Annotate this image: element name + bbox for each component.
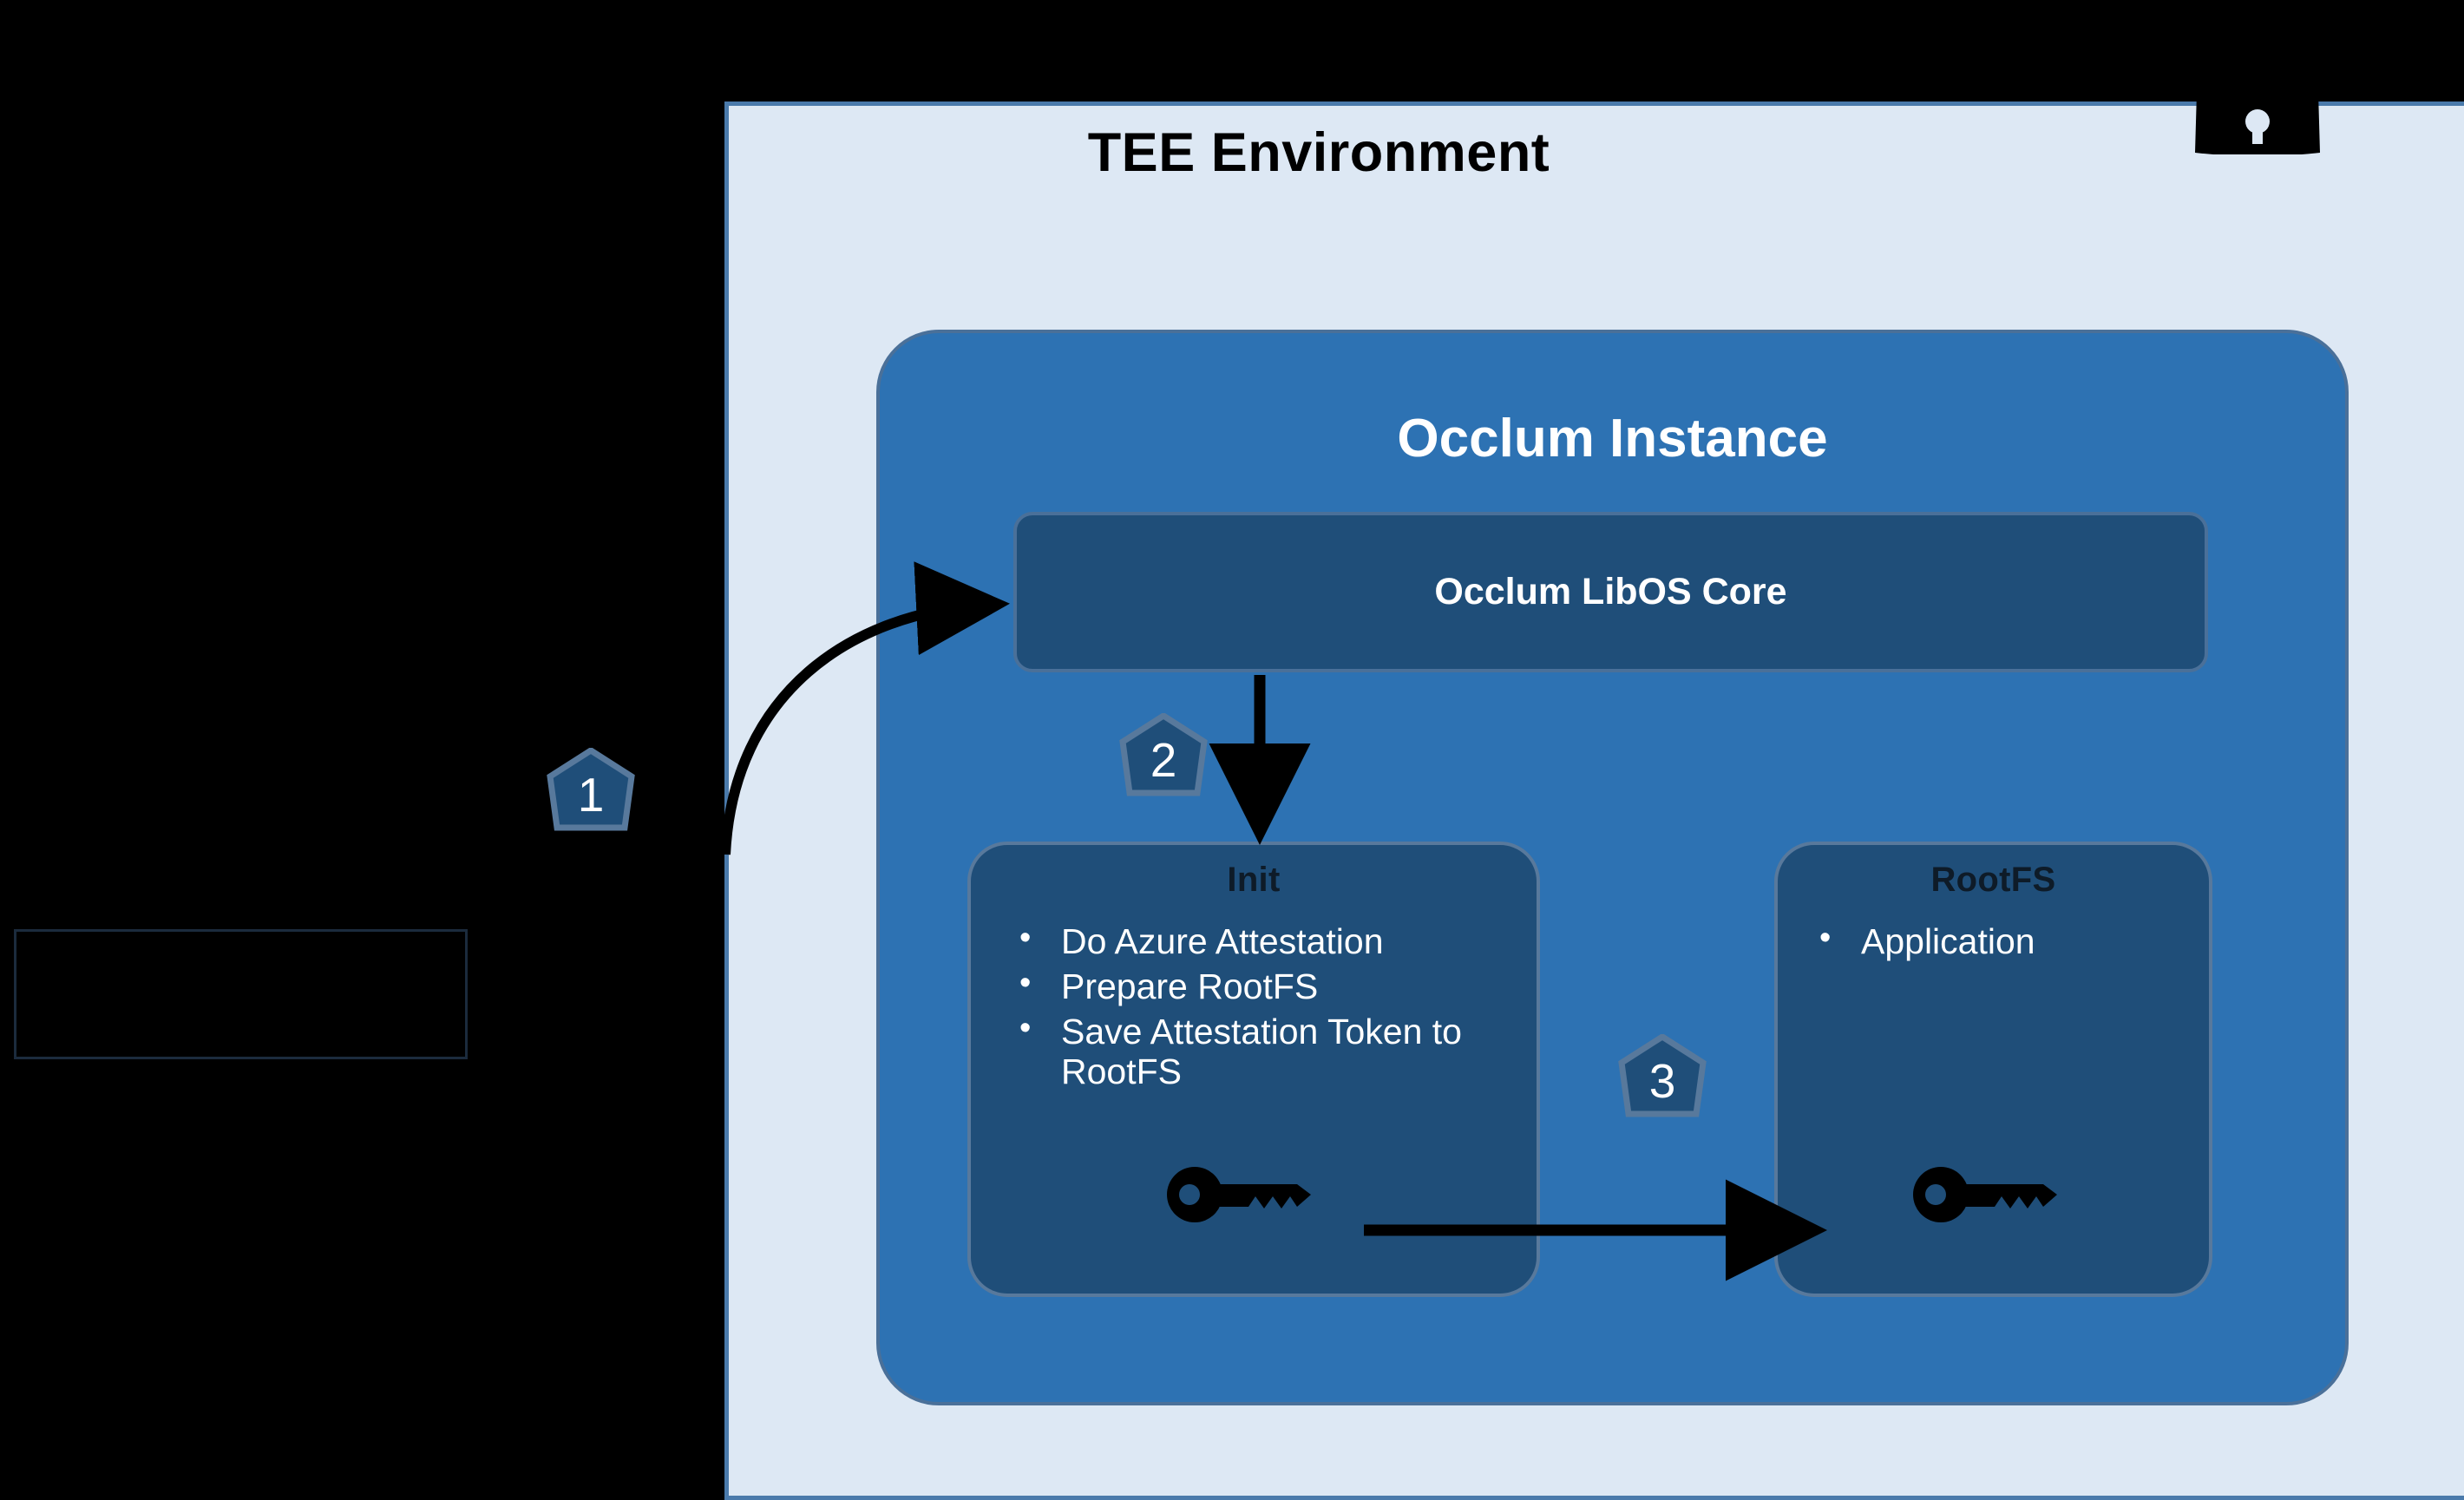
init-panel: Init Do Azure Attestation Prepare RootFS… [967,842,1540,1297]
occlum-libos-core-box: Occlum LibOS Core [1013,512,2208,672]
tee-environment-title: TEE Environment [724,121,1913,184]
rootfs-panel: RootFS Application [1774,842,2212,1297]
key-icon [1167,1167,1321,1227]
list-item: Do Azure Attestation [1012,922,1537,962]
step-badge-2: 2 [1115,713,1212,807]
step-badge-1-label: 1 [542,748,639,842]
init-bullet-list: Do Azure Attestation Prepare RootFS Save… [971,922,1537,1092]
list-item: Save Attestation Token to RootFS [1012,1012,1537,1092]
rootfs-bullet-list: Application [1778,922,2209,962]
occlum-libos-core-label: Occlum LibOS Core [1434,571,1786,613]
empty-outlined-box [14,929,468,1059]
key-icon [1913,1167,2068,1227]
list-item: Application [1812,922,2209,962]
step-badge-1: 1 [542,748,639,842]
list-item: Prepare RootFS [1012,967,1537,1007]
step-badge-3-label: 3 [1614,1034,1711,1128]
init-panel-title: Init [971,861,1537,900]
step-badge-3: 3 [1614,1034,1711,1128]
padlock-icon [2171,50,2344,154]
diagram-canvas: TEE Environment Occlum Instance Occlum L… [0,0,2464,1500]
occlum-instance-title: Occlum Instance [876,408,2349,469]
step-badge-2-label: 2 [1115,713,1212,807]
rootfs-panel-title: RootFS [1778,861,2209,900]
